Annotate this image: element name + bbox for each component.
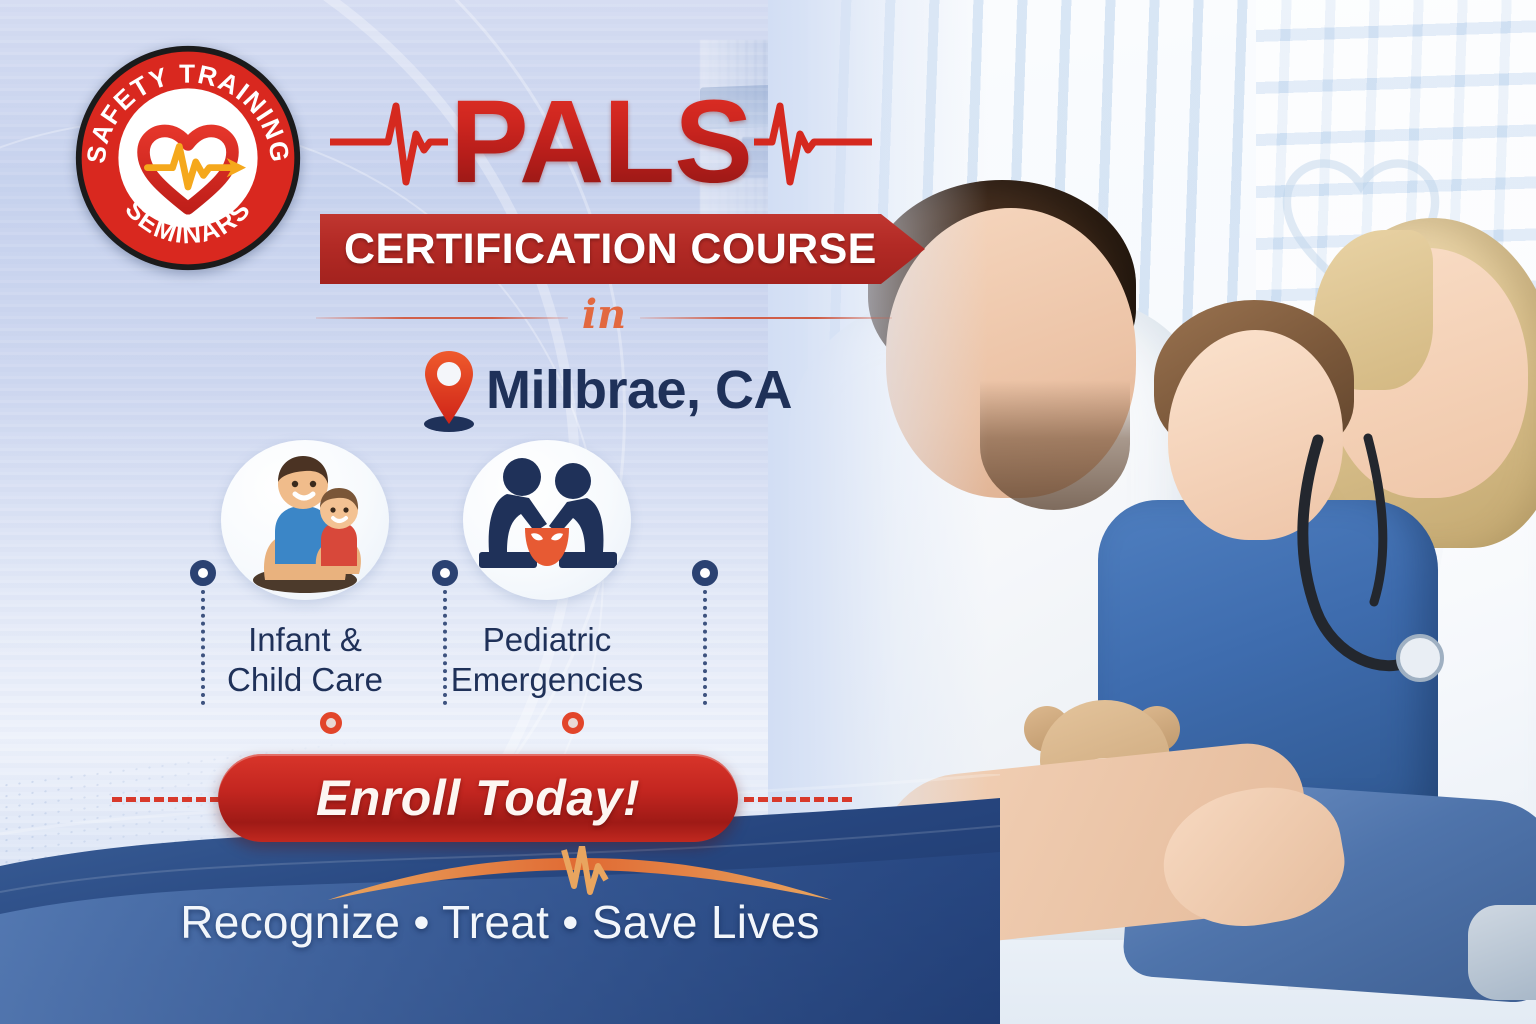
connector-word: in [582,295,626,335]
connector-dotline-left [201,590,205,705]
cta-dash-right [744,797,852,802]
parent-and-child-icon [221,440,389,600]
connector-dotline-right [703,590,707,705]
enroll-today-button[interactable]: Enroll Today! [218,754,738,842]
feature-label: Pediatric Emergencies [440,620,654,699]
connector-node-middle [432,560,458,586]
connector-dot-red-right [562,712,584,734]
page-title: PALS [450,83,752,201]
feature-label-line2: Emergencies [451,661,644,698]
feature-label-line1: Pediatric [483,621,611,658]
city-label: Millbrae, CA [486,359,792,421]
feature-label: Infant & Child Care [198,620,412,699]
feature-label-line2: Child Care [227,661,383,698]
certification-course-banner: CERTIFICATION COURSE [320,214,925,284]
divider-rule-left [316,317,568,319]
feature-item-pediatric-emergencies[interactable]: Pediatric Emergencies [440,440,654,699]
ekg-line-icon [330,90,448,194]
stethoscope-icon [1198,430,1498,760]
headline-row: PALS [330,78,930,206]
cta-dash-left [112,797,220,802]
feature-list: Infant & Child Care Pediatri [186,440,726,740]
tagline: Recognize • Treat • Save Lives [0,895,1000,949]
divider-rule-right [640,317,892,319]
feature-label-line1: Infant & [248,621,362,658]
connector-node-left [190,560,216,586]
feature-item-infant-child-care[interactable]: Infant & Child Care [198,440,412,699]
connector-dot-red-left [320,712,342,734]
connector-dotline-middle [443,590,447,705]
safety-training-seminars-logo[interactable]: SAFETY TRAINING SEMINARS [72,38,304,278]
enroll-today-label: Enroll Today! [316,769,640,827]
boy-shoe [1468,905,1536,1000]
banner-label: CERTIFICATION COURSE [320,225,877,274]
father-beard [980,380,1130,510]
location-divider: in [316,290,892,346]
location-row: Millbrae, CA [420,345,792,435]
map-pin-icon [420,348,478,432]
ekg-line-icon [754,90,872,194]
cpr-team-icon [463,440,631,600]
pals-course-promo-poster: SAFETY TRAINING SEMINARS PALS CERTIFICAT… [0,0,1536,1024]
connector-node-right [692,560,718,586]
